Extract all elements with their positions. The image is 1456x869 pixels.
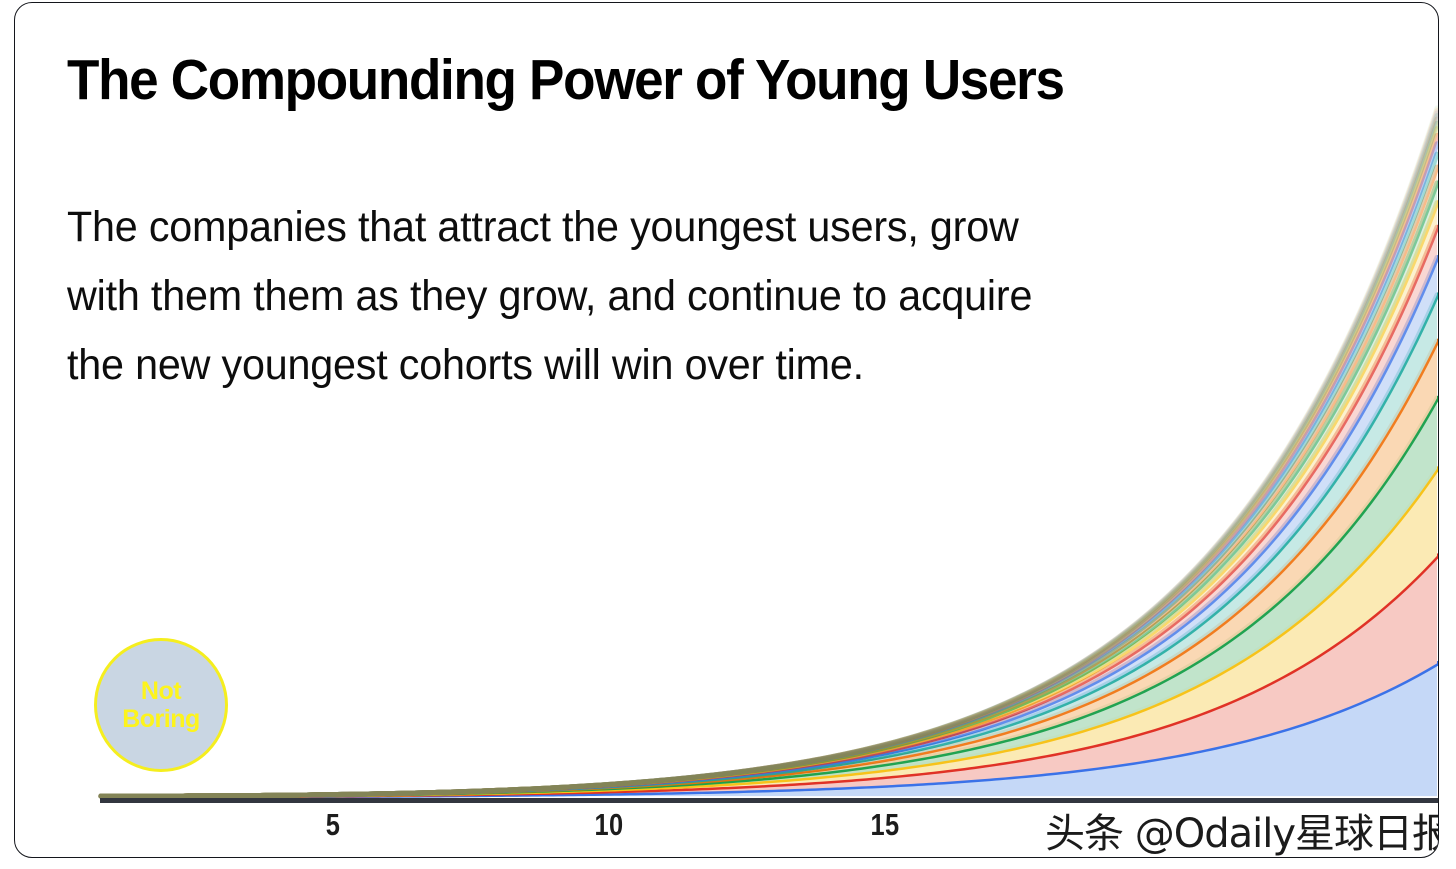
odaily-watermark: 头条 @Odaily星球日报 xyxy=(1045,801,1439,858)
x-tick-label-15: 15 xyxy=(870,807,899,843)
not-boring-logo-badge[interactable]: Not Boring xyxy=(94,638,228,772)
x-tick-label-10: 10 xyxy=(594,807,623,843)
chart-svg xyxy=(15,3,1438,857)
x-tick-label-5: 5 xyxy=(326,807,341,843)
logo-line-1: Not xyxy=(141,677,181,705)
page-title: The Compounding Power of Young Users xyxy=(67,51,1164,111)
body-paragraph: The companies that attract the youngest … xyxy=(67,193,1037,400)
cohort-growth-chart xyxy=(15,3,1438,857)
logo-line-2: Boring xyxy=(122,705,200,733)
slide-card: 51015 The Compounding Power of Young Use… xyxy=(14,2,1439,858)
